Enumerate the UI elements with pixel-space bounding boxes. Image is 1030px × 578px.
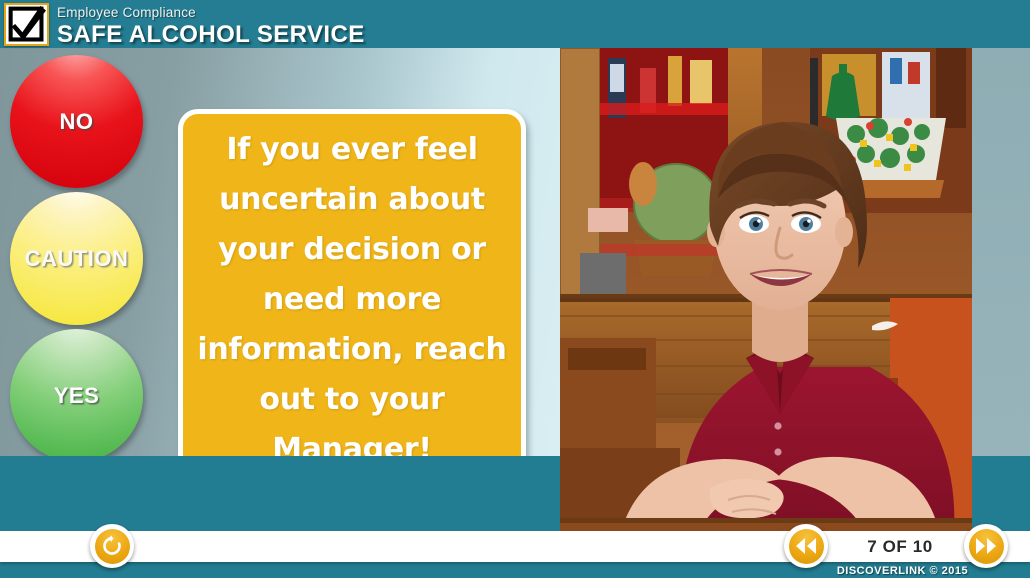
- course-title: SAFE ALCOHOL SERVICE: [57, 21, 557, 48]
- next-button[interactable]: [964, 524, 1008, 568]
- traffic-light-caution[interactable]: CAUTION: [10, 192, 143, 325]
- rewind-double-left-icon: [789, 529, 824, 564]
- traffic-light-yes[interactable]: YES: [10, 329, 143, 462]
- replay-circular-arrow-icon: [95, 529, 130, 564]
- copyright-text: DISCOVERLINK © 2015: [820, 563, 985, 578]
- traffic-light-yes-label: YES: [54, 383, 100, 409]
- course-header: Employee Compliance SAFE ALCOHOL SERVICE: [0, 0, 1030, 48]
- checkmark-box-icon: [4, 3, 49, 46]
- slide-content-panel: NO CAUTION YES If you ever feel uncertai…: [0, 48, 560, 456]
- course-player: Employee Compliance SAFE ALCOHOL SERVICE…: [0, 0, 1030, 578]
- header-titles: Employee Compliance SAFE ALCOHOL SERVICE: [57, 2, 557, 48]
- course-subtitle: Employee Compliance: [57, 2, 557, 21]
- right-background-panel: [972, 48, 1030, 456]
- callout-card: If you ever feel uncertain about your de…: [178, 109, 526, 491]
- traffic-light-no[interactable]: NO: [10, 55, 143, 188]
- callout-text: If you ever feel uncertain about your de…: [193, 125, 511, 475]
- fast-forward-double-right-icon: [969, 529, 1004, 564]
- page-counter: 7 OF 10: [840, 531, 960, 562]
- traffic-light-caution-label: CAUTION: [25, 246, 129, 272]
- slide-photo: [560, 48, 972, 535]
- previous-button[interactable]: [784, 524, 828, 568]
- traffic-light-no-label: NO: [60, 109, 94, 135]
- replay-button[interactable]: [90, 524, 134, 568]
- traffic-light-group: NO CAUTION YES: [10, 55, 145, 450]
